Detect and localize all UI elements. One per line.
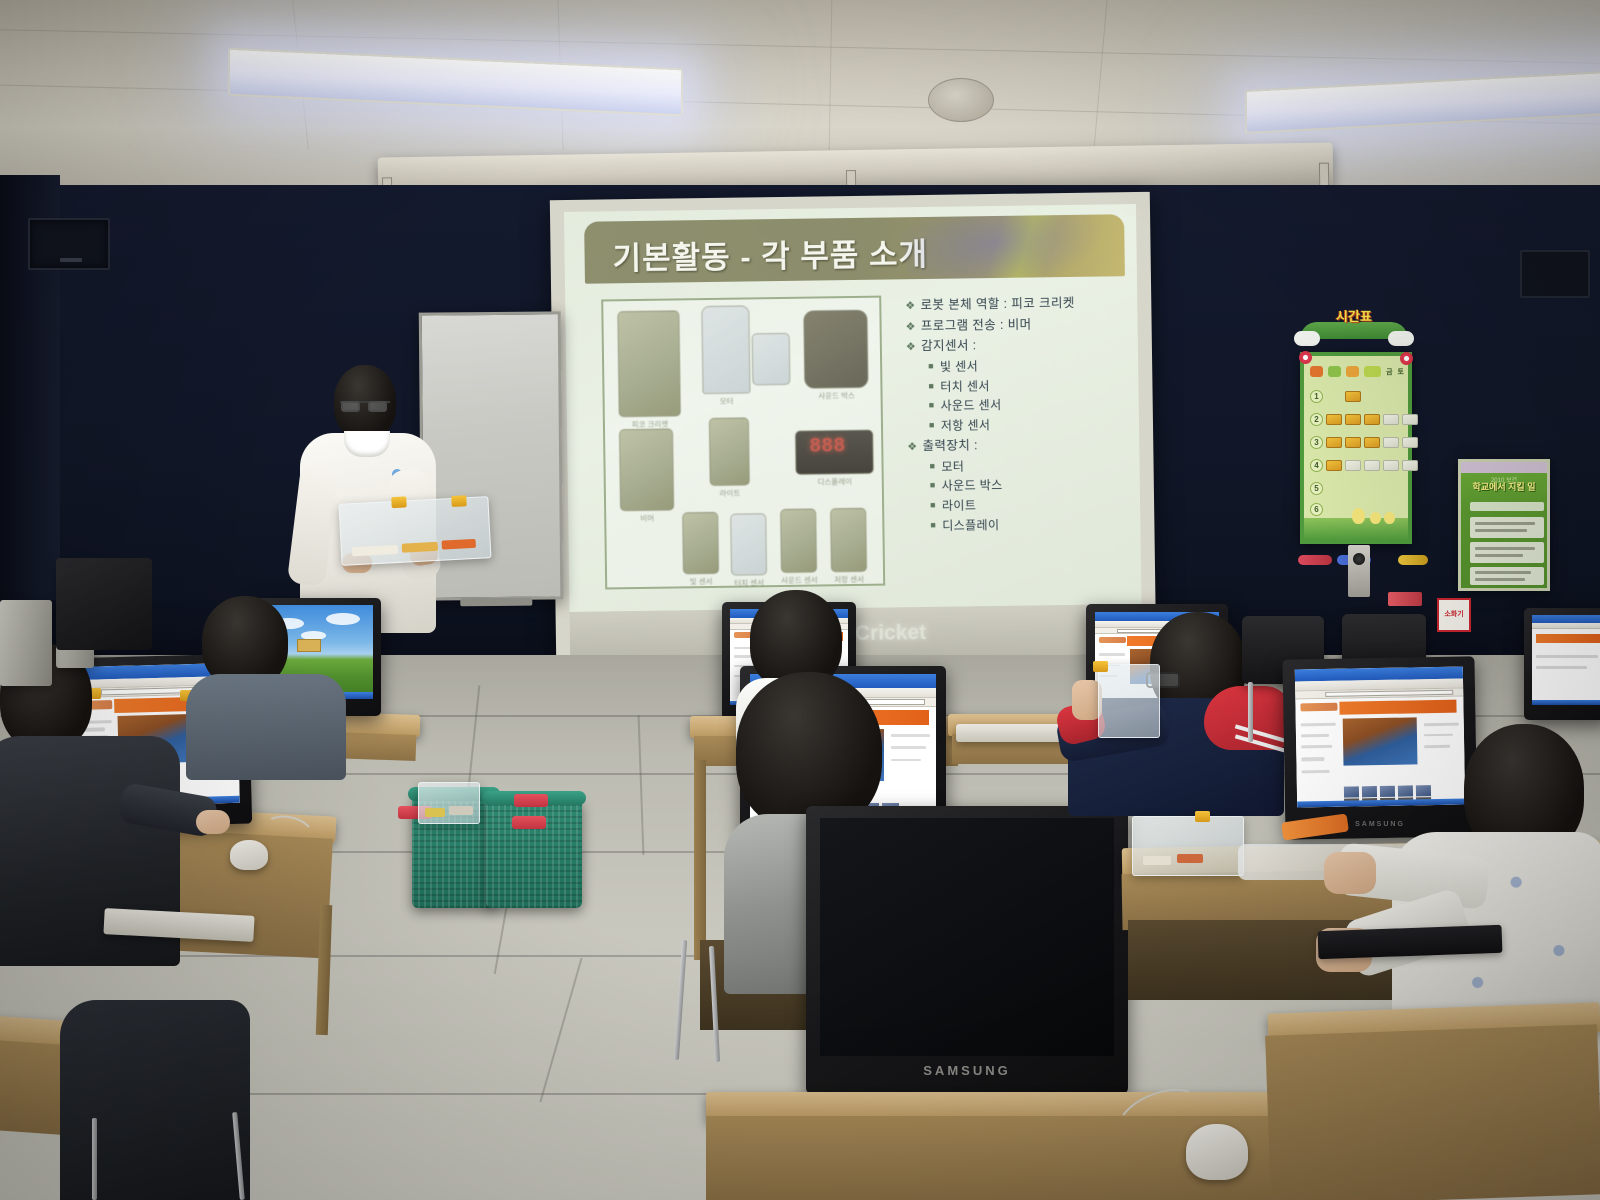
kit-part	[1177, 854, 1203, 863]
keyboard-right-back[interactable]	[956, 724, 1068, 742]
square-bullet-icon: ■	[929, 420, 935, 430]
green-poster-title: 학교에서 지킬 일	[1461, 480, 1547, 493]
part-caption: 라이트	[710, 487, 750, 499]
glasses-lens	[368, 401, 387, 412]
kit-part	[449, 806, 473, 815]
diamond-bullet-icon: ❖	[905, 300, 915, 312]
mouse-center-foreground[interactable]	[1186, 1124, 1248, 1180]
monitor-brand-label: SAMSUNG	[806, 1063, 1128, 1078]
diamond-bullet-icon: ❖	[906, 321, 916, 333]
wall-chart-row: 5	[1310, 478, 1403, 498]
wall-chart-row-number: 6	[1310, 503, 1323, 516]
kit-part	[425, 808, 445, 817]
bullet-item: ■라이트	[930, 497, 1133, 513]
square-bullet-icon: ■	[929, 460, 935, 470]
monitor-center-front-screen[interactable]	[820, 818, 1114, 1056]
bullet-item: ❖로봇 본체 역할 : 피코 크리켓	[905, 296, 1130, 313]
slide-parts-diagram: 피코 크리켓 모터 사운드 박스 비머	[601, 296, 885, 590]
wall-chart-row-number: 2	[1310, 413, 1323, 426]
square-bullet-icon: ■	[929, 400, 935, 410]
bullet-item: ❖감지센서 :	[906, 337, 1131, 354]
wall-speaker-left-icon	[28, 218, 110, 270]
student-hand	[1324, 852, 1376, 894]
desk-center-foreground-panel	[706, 1116, 1366, 1200]
wall-chart-row-number: 4	[1310, 459, 1323, 472]
bullet-item: ■디스플레이	[930, 517, 1133, 533]
chair-leg	[1248, 682, 1253, 742]
student-hand	[196, 810, 230, 834]
green-wall-poster: 2010 보건 학교에서 지킬 일	[1458, 459, 1550, 591]
classroom-scene: 기본활동 - 각 부품 소개 피코 크리켓 모터 사운드 박스	[0, 0, 1600, 1200]
kit-clasp-icon	[391, 496, 407, 508]
kit-box-instructor	[338, 496, 491, 566]
mouse-left[interactable]	[230, 840, 268, 870]
kit-part	[1143, 856, 1171, 865]
square-bullet-icon: ■	[930, 520, 936, 530]
student-left-foreground	[60, 1000, 250, 1200]
wall-chart-col-header: 금	[1386, 367, 1392, 377]
bullet-item: ■모터	[929, 458, 1132, 474]
desk-leg	[694, 760, 706, 960]
wall-chart-title: 시간표	[1292, 306, 1416, 325]
kit-box-right-desk	[1132, 816, 1244, 876]
instructor-collar	[344, 431, 390, 457]
bullet-item: ■터치 센서	[928, 378, 1131, 394]
wall-chart-col-header: 토	[1398, 367, 1404, 377]
monitor-far-right-back	[1524, 608, 1600, 720]
part-caption: 사운드 센서	[781, 575, 817, 587]
kit-clasp-icon	[1195, 811, 1210, 822]
monitor-center-front: SAMSUNG	[806, 806, 1128, 1094]
wall-chart-row-number: 1	[1310, 390, 1323, 403]
pc-tower-left-2	[0, 600, 52, 686]
ceiling-light-right	[1245, 70, 1600, 134]
monitor-far-right-back-screen[interactable]	[1532, 615, 1600, 705]
bullet-item: ■빛 센서	[928, 358, 1131, 374]
wall-speaker-right-icon	[1520, 250, 1590, 298]
wall-camera-icon	[1348, 545, 1370, 597]
bullet-item: ■사운드 센서	[929, 398, 1132, 414]
part-caption: 비머	[620, 513, 674, 525]
wall-chart-header-row: 금 토	[1310, 363, 1404, 380]
small-wall-poster	[1388, 592, 1422, 606]
diamond-bullet-icon: ❖	[906, 341, 916, 353]
kit-clasp-icon	[1093, 661, 1108, 672]
slide-title: 기본활동 - 각 부품 소개	[612, 229, 928, 278]
basket-handle	[512, 816, 546, 829]
glasses-lens	[341, 401, 360, 412]
square-bullet-icon: ■	[928, 361, 934, 371]
desk-far-right-foreground-panel	[1265, 1024, 1600, 1200]
bullet-item: ❖출력장치 :	[907, 437, 1132, 454]
kit-box-on-floor	[418, 782, 480, 824]
chick-icon	[1370, 512, 1381, 524]
part-caption: 빛 센서	[683, 576, 719, 588]
square-bullet-icon: ■	[930, 500, 936, 510]
storage-basket-2	[486, 800, 582, 908]
kit-clasp-icon	[451, 495, 467, 507]
fire-extinguisher-sign: 소화기	[1437, 598, 1471, 632]
monitor-back-left-dark	[56, 558, 152, 650]
presentation-slide: 기본활동 - 각 부품 소개 피코 크리켓 모터 사운드 박스	[564, 204, 1142, 612]
bullet-item: ❖프로그램 전송 : 비머	[906, 317, 1131, 334]
wall-chart: 금 토 1 2 3 4 5 6	[1300, 352, 1412, 544]
slide-display-digits: 888	[809, 435, 845, 459]
part-caption: 저항 센서	[831, 574, 867, 586]
bullet-item: ■저항 센서	[929, 417, 1132, 433]
wall-chart-arch: 시간표	[1292, 306, 1416, 348]
slide-bullet-list: ❖로봇 본체 역할 : 피코 크리켓 ❖프로그램 전송 : 비머 ❖감지센서 :…	[905, 296, 1133, 539]
diamond-bullet-icon: ❖	[907, 441, 917, 453]
part-caption: 모터	[703, 395, 751, 407]
wall-chart-row: 2	[1310, 409, 1403, 429]
square-bullet-icon: ■	[930, 480, 936, 490]
kit-part	[442, 539, 476, 550]
wall-chart-row: 4	[1310, 455, 1403, 475]
kit-box-right-back	[1098, 664, 1160, 738]
part-caption: 터치 센서	[731, 577, 767, 589]
part-caption: 사운드 박스	[804, 390, 868, 402]
part-caption: 디스플레이	[796, 476, 874, 488]
chick-icon	[1384, 512, 1395, 524]
kit-part	[352, 545, 398, 556]
wall-chart-row-number: 3	[1310, 436, 1323, 449]
basket-handle	[514, 794, 548, 807]
slide-title-bar: 기본활동 - 각 부품 소개	[584, 214, 1125, 284]
chick-icon	[1352, 508, 1365, 524]
wall-chart-row: 1	[1310, 386, 1403, 406]
square-bullet-icon: ■	[928, 381, 934, 391]
projection-screen: 기본활동 - 각 부품 소개 피코 크리켓 모터 사운드 박스	[550, 192, 1156, 662]
student-torso	[60, 1000, 250, 1200]
wall-chart-row: 3	[1310, 432, 1403, 452]
projection-footer-word: Cricket	[855, 621, 927, 646]
ceiling-light-left	[228, 48, 683, 117]
ceiling-speaker-icon	[928, 78, 994, 122]
bullet-item: ■사운드 박스	[930, 477, 1133, 493]
wall-chart-row-number: 5	[1310, 482, 1323, 495]
kit-part	[402, 542, 438, 553]
chair-leg	[92, 1118, 97, 1200]
